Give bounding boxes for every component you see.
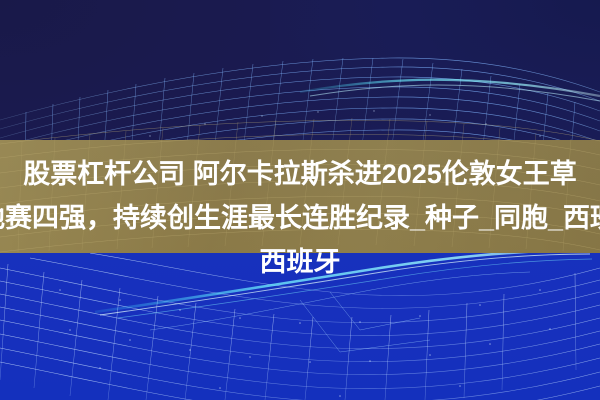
headline-line-2: 地赛四强，持续创生涯最长连胜纪录_种子_同胞_西班牙 [0,196,600,240]
headline-text: 股票杠杆公司 阿尔卡拉斯杀进2025伦敦女王草 地赛四强，持续创生涯最长连胜纪录… [0,152,600,284]
headline-line-1: 股票杠杆公司 阿尔卡拉斯杀进2025伦敦女王草 [0,152,600,196]
banner-image: 股票杠杆公司 阿尔卡拉斯杀进2025伦敦女王草 地赛四强，持续创生涯最长连胜纪录… [0,0,600,400]
headline-line-3: 西班牙 [0,240,600,284]
